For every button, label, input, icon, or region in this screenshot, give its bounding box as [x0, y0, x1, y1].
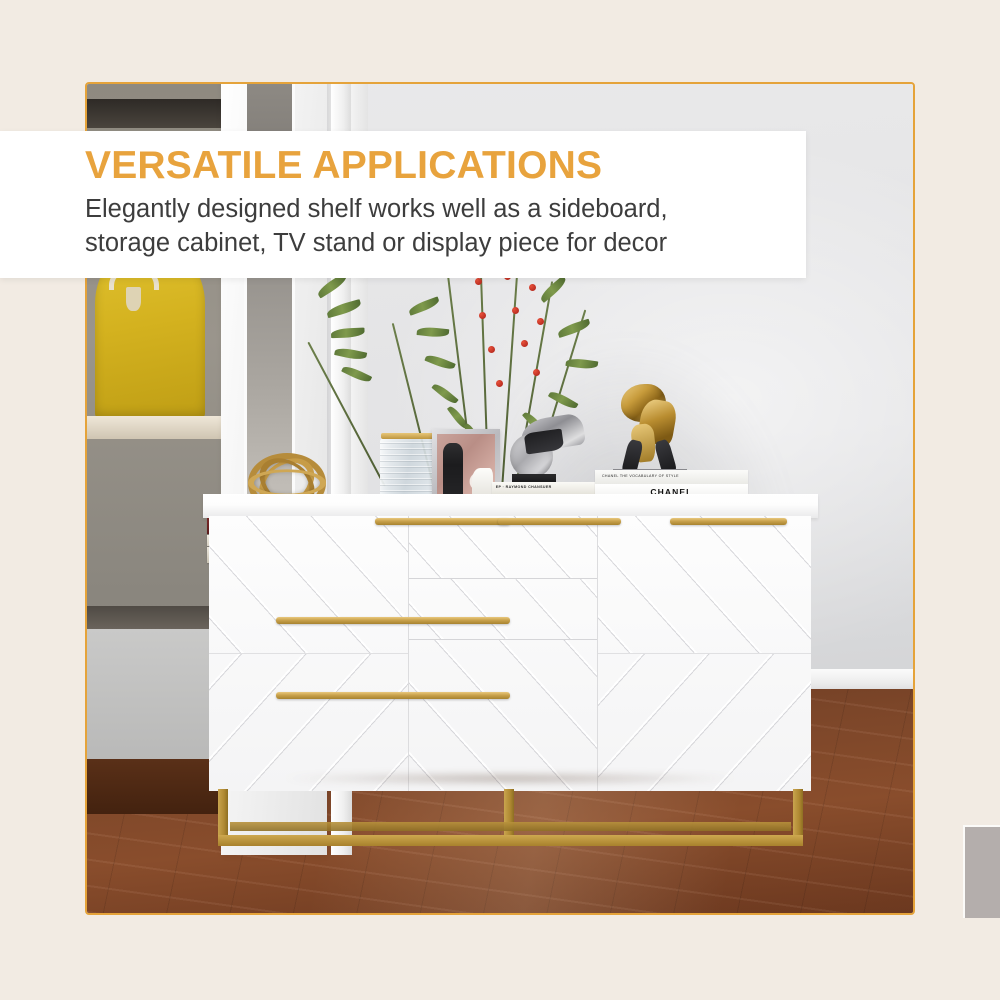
- sideboard-cabinet[interactable]: [203, 494, 818, 813]
- chevron-texture: [409, 640, 597, 791]
- banner-subtext-line-2: storage cabinet, TV stand or display pie…: [85, 227, 785, 261]
- cabinet-drawer-3[interactable]: [409, 640, 597, 791]
- door-right-upper-panel: [598, 516, 811, 653]
- handle-drawer-1[interactable]: [498, 518, 621, 525]
- edge-color-swatch: [963, 825, 1000, 918]
- silver-sculpture: [507, 416, 590, 486]
- closet-shelf-middle: [87, 416, 227, 439]
- chevron-texture: [409, 579, 597, 638]
- cabinet-floor-shadow: [276, 774, 744, 784]
- leg-rear-rail: [230, 822, 791, 831]
- handle-drawer-2[interactable]: [276, 617, 510, 624]
- artwork-figure: [443, 443, 463, 497]
- book-spine-label: EP · RAYMOND CHANSUER: [496, 486, 552, 490]
- chevron-texture: [209, 654, 408, 790]
- cabinet-door-left[interactable]: [209, 516, 409, 790]
- handle-door-right[interactable]: [670, 518, 787, 525]
- leg-front-rail: [218, 835, 803, 846]
- cabinet-gold-legs: [218, 789, 803, 846]
- handle-drawer-3[interactable]: [276, 692, 510, 699]
- callout-banner: VERSATILE APPLICATIONS Elegantly designe…: [0, 131, 806, 278]
- page-root: EP · RAYMOND CHANSUER: [0, 0, 1000, 1000]
- door-right-lower-panel: [598, 653, 811, 790]
- book-spine-label-vocabulary: CHANEL THE VOCABULARY OF STYLE: [602, 475, 679, 479]
- gold-figure-sculpture: [607, 378, 694, 477]
- chevron-texture: [598, 654, 811, 790]
- handbag-tab: [126, 287, 141, 312]
- cabinet-drawer-2[interactable]: [409, 579, 597, 639]
- chevron-texture: [598, 516, 811, 653]
- silver-dark-accent: [523, 429, 564, 455]
- orb-ring-4: [248, 469, 326, 496]
- chevron-texture: [409, 516, 597, 578]
- banner-subtext-line-1: Elegantly designed shelf works well as a…: [85, 193, 785, 227]
- cabinet-drawer-1[interactable]: [409, 516, 597, 579]
- door-left-lower-panel: [209, 653, 408, 790]
- banner-subtext: Elegantly designed shelf works well as a…: [85, 193, 785, 260]
- cabinet-top-surface: [203, 494, 818, 518]
- closet-shelf-top: [87, 99, 227, 128]
- door-left-upper-panel: [209, 516, 408, 653]
- cabinet-body: [209, 516, 811, 790]
- cabinet-door-right[interactable]: [598, 516, 811, 790]
- chevron-texture: [209, 516, 408, 653]
- handle-door-left[interactable]: [375, 518, 510, 525]
- cabinet-drawer-column: [409, 516, 598, 790]
- banner-headline: VERSATILE APPLICATIONS: [85, 144, 602, 188]
- picture-artwork: [437, 434, 495, 500]
